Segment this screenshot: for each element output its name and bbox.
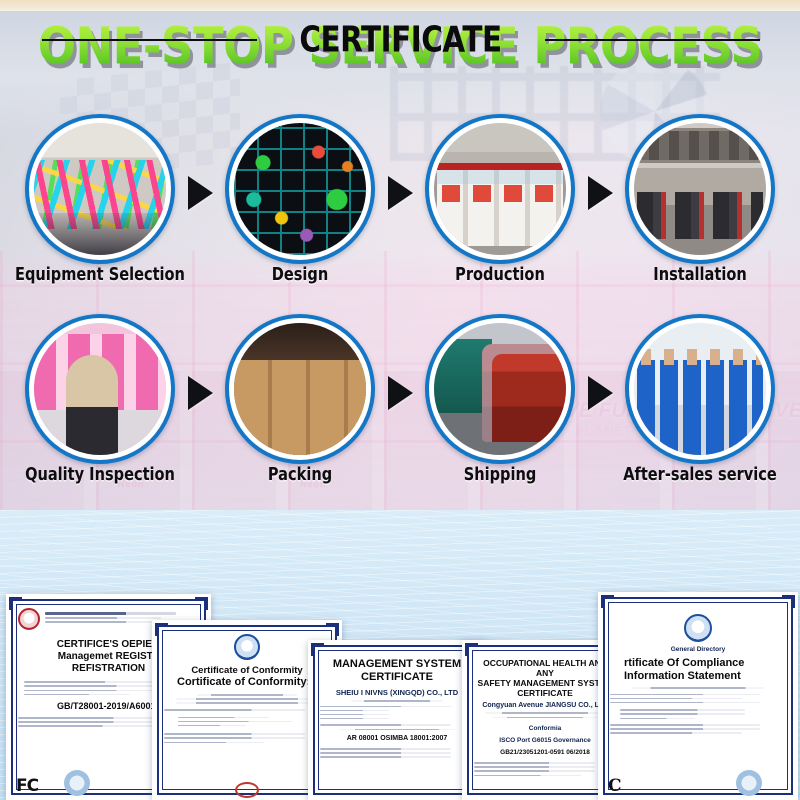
cert-3-title-line-1: MANAGEMENT SYSTEM (320, 658, 474, 671)
cert-3-sub (351, 700, 443, 702)
cert-3-field-4 (320, 718, 389, 720)
quality-inspection-photo (34, 323, 166, 455)
cert-1-addr-line-1 (45, 617, 161, 619)
production-photo (434, 123, 566, 255)
process-step-1[interactable]: Equipment Selection (0, 114, 200, 294)
cert-4-footer-1 (474, 762, 595, 764)
packing-photo (234, 323, 366, 455)
installation-photo (634, 123, 766, 255)
cert-3-standard-code: AR 08001 OSIMBA 18001:2007 (320, 735, 474, 742)
cert-3-footer-3 (320, 756, 451, 758)
after-sales-service-photo (634, 323, 766, 455)
cert-1-logo-row: FC (16, 770, 90, 796)
cert-5-logo-row: C (608, 770, 762, 796)
cert-4-title-line-1: OCCUPATIONAL HEALTH AND ANY (474, 658, 616, 678)
cert-2-body-1 (164, 709, 305, 711)
cert-2-sub-1 (197, 694, 297, 696)
cert-5-body-2 (610, 698, 742, 700)
cert-1-body-1 (18, 717, 172, 719)
process-row-2: Quality Inspection Packing Shipping (0, 314, 800, 494)
cert-4-conformity-label: Conformia (474, 725, 616, 732)
fcc-logo-icon: FC (16, 776, 38, 796)
cert-3-body-1 (320, 724, 451, 726)
cert-4-footer-2 (474, 766, 595, 768)
cert-2-title-line-1: Certificate of Conformity (164, 665, 330, 676)
cert-1-seal-icon (18, 608, 40, 630)
process-step-2[interactable]: Design (200, 114, 400, 294)
cert-5-footer-2 (610, 728, 760, 730)
cert-5-sub-1 (632, 687, 764, 689)
step-8-label: After-sales service (606, 464, 794, 485)
cert-3-field-2 (320, 710, 389, 712)
certificate-heading: CERTIFICATE (299, 19, 501, 60)
cert-2-emblem-icon (234, 634, 260, 660)
cert-5-issuer: General Directory (610, 646, 786, 653)
cert-3-field-1 (320, 706, 451, 708)
cert-5-emblem-icon (684, 614, 712, 642)
step-1-circle[interactable] (25, 114, 175, 264)
process-step-6[interactable]: Packing (200, 314, 400, 494)
cert-4-org: Congyuan Avenue JIANGSU CO., LTD (474, 702, 616, 709)
step-2-label: Design (206, 264, 394, 285)
cert-5-field-1 (620, 709, 745, 711)
cert-4-scheme-label: ISCO Port G6015 Governance (474, 737, 616, 744)
cert-4-sub-1 (485, 712, 606, 714)
step-7-label: Shipping (406, 464, 594, 485)
cert-2-field-2 (178, 721, 292, 723)
cert-2-body-2 (164, 733, 305, 735)
round-silver-seal-icon (736, 770, 762, 796)
cert-4-footer-3 (474, 770, 595, 772)
cert-2-field-1 (178, 717, 269, 719)
process-step-7[interactable]: Shipping (400, 314, 600, 494)
cert-5-body-3 (610, 702, 760, 704)
process-step-4[interactable]: Installation (600, 114, 800, 294)
ce-mark-logo-icon: C (608, 776, 622, 796)
step-6-circle[interactable] (225, 314, 375, 464)
top-beige-strip (0, 0, 800, 11)
step-4-label: Installation (606, 264, 794, 285)
cert-5-field-3 (620, 718, 695, 720)
cert-3-field-3 (320, 714, 389, 716)
step-7-circle[interactable] (425, 314, 575, 464)
cert-2-red-stamp-icon (235, 782, 259, 798)
step-8-circle[interactable] (625, 314, 775, 464)
cert-1-field-1 (24, 681, 155, 683)
step-1-label: Equipment Selection (6, 264, 194, 285)
cert-2-body-4 (164, 742, 264, 744)
cert-4-sub-2 (492, 717, 599, 719)
cert-3-footer-2 (320, 752, 451, 754)
cert-5-body-1 (610, 694, 760, 696)
cert-5-footer-3 (610, 732, 742, 734)
step-3-circle[interactable] (425, 114, 575, 264)
cert-2-field-3 (178, 725, 246, 727)
cert-2-body-3 (164, 737, 305, 739)
cert-2-title-line-2: Cortificate of Conformity:T (164, 676, 330, 689)
cert-1-org-line (45, 612, 176, 615)
cert-3-org: SHEIU I NIVNS (XINGQD) CO., LTD (320, 688, 474, 697)
cert-1-body-3 (18, 725, 154, 727)
heading-rule-left (42, 39, 257, 41)
step-6-label: Packing (206, 464, 394, 485)
cert-4-title-line-3: CERTIFICATE (474, 688, 616, 698)
cert-2-sub-3 (176, 702, 317, 704)
cert-4-title-line-2: SAFETY MANAGEMENT SYSTEM (474, 678, 616, 688)
cert-5-field-2 (620, 713, 745, 715)
cert-3-body-2 (339, 729, 455, 731)
shipping-photo (434, 323, 566, 455)
blue-round-seal-icon (64, 770, 90, 796)
one-stop-service-process-section: LIVE FUN PLANET LIVE Neon Neon PLAY PLAN… (0, 11, 800, 510)
process-step-5[interactable]: Quality Inspection (0, 314, 200, 494)
poster-page: LIVE FUN PLANET LIVE Neon Neon PLAY PLAN… (0, 0, 800, 800)
cert-1-body-2 (18, 721, 172, 723)
certificate-heading-block: CERTIFICATE (0, 22, 800, 58)
certificate-card-3[interactable]: MANAGEMENT SYSTEM CERTIFICATE SHEIU I NI… (308, 640, 486, 800)
cert-3-footer-1 (320, 748, 451, 750)
cert-5-title-line-2: Information Statement (610, 670, 786, 683)
step-5-circle[interactable] (25, 314, 175, 464)
cert-4-footer-4 (474, 775, 581, 777)
cert-1-field-2 (24, 685, 173, 687)
equipment-selection-photo (34, 123, 166, 255)
step-3-label: Production (406, 264, 594, 285)
cert-3-title-line-2: CERTIFICATE (320, 671, 474, 684)
step-5-label: Quality Inspection (6, 464, 194, 485)
cert-1-field-3 (24, 690, 173, 692)
cert-5-footer-1 (610, 724, 760, 726)
step-2-circle[interactable] (225, 114, 375, 264)
certificate-card-5[interactable]: General Directory rtificate Of Complianc… (598, 592, 798, 800)
cert-1-field-4 (24, 694, 129, 696)
process-step-3[interactable]: Production (400, 114, 600, 294)
step-4-circle[interactable] (625, 114, 775, 264)
cert-2-sub-2 (176, 698, 317, 700)
cert-4-standard-code: GB21/23051201-0591 06/2018 (474, 749, 616, 756)
heading-rule-right (545, 39, 760, 41)
process-row-1: Equipment Selection Design Production (0, 114, 800, 294)
process-step-8[interactable]: After-sales service (600, 314, 800, 494)
cert-5-title-line-1: rtificate Of Compliance (610, 657, 786, 670)
design-photo (234, 123, 366, 255)
